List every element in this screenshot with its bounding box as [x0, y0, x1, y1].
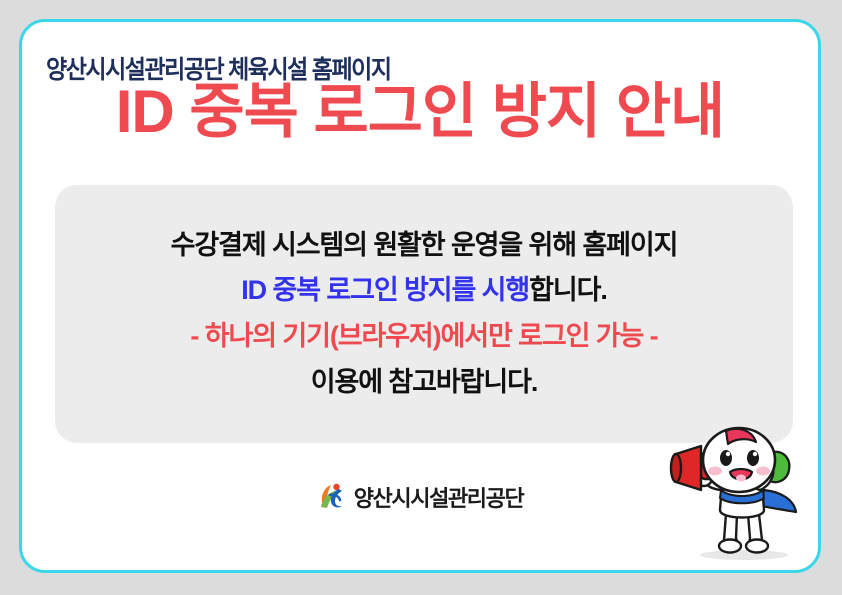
message-line-2-highlight: ID 중복 로그인 방지를 시행: [241, 275, 529, 305]
page-title: ID 중복 로그인 방지 안내: [22, 80, 818, 145]
megaphone-mascot: [660, 418, 810, 566]
message-line-3: - 하나의 기기(브라우저)에서만 로그인 가능 -: [190, 322, 657, 352]
message-line-1: 수강결제 시스템의 원활한 운영을 위해 홈페이지: [171, 231, 678, 261]
message-line-2: ID 중복 로그인 방지를 시행합니다.: [241, 276, 606, 306]
footer-logo-text: 양산시시설관리공단: [354, 481, 524, 513]
message-line-4: 이용에 참고바랍니다.: [311, 368, 537, 398]
notice-card: 양산시시설관리공단 체육시설 홈페이지 ID 중복 로그인 방지 안내 수강결제…: [19, 19, 821, 573]
yangsan-runner-logo-icon: [317, 480, 351, 514]
message-line-2-tail: 합니다.: [529, 275, 607, 305]
message-panel: 수강결제 시스템의 원활한 운영을 위해 홈페이지 ID 중복 로그인 방지를 …: [55, 185, 793, 443]
